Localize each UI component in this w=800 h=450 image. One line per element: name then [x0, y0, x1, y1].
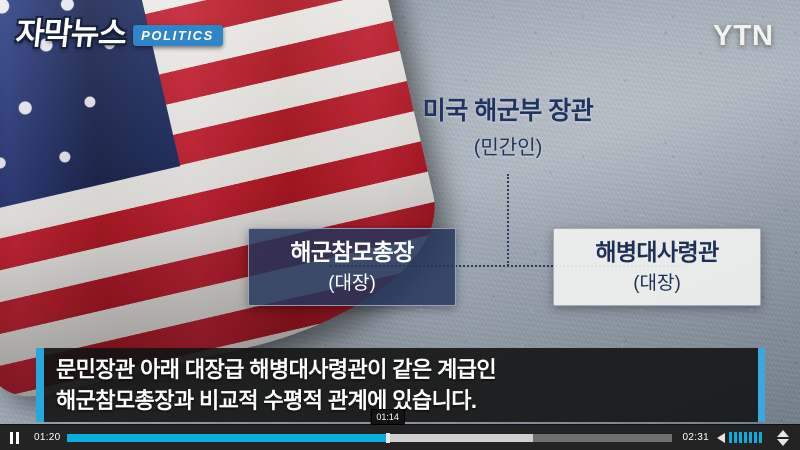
speaker-icon[interactable]: [717, 433, 725, 443]
seek-played: [67, 434, 388, 442]
subtitle-text: 문민장관 아래 대장급 해병대사령관이 같은 계급인 해군참모총장과 비교적 수…: [36, 354, 496, 416]
subtitle-line-2: 해군참모총장과 비교적 수평적 관계에 있습니다.: [56, 385, 496, 416]
player-control-bar: 01:20 01:14 02:31: [0, 424, 800, 450]
volume-bar: [759, 432, 762, 443]
org-node-right-title: 해병대사령관: [595, 239, 718, 265]
org-node-top-subtitle: (민간인): [388, 131, 628, 160]
volume-control[interactable]: [717, 432, 770, 443]
channel-watermark: YTN: [713, 20, 774, 53]
org-node-left-subtitle: (대장): [328, 268, 376, 295]
pause-icon-bar-left: [10, 432, 13, 444]
current-time-label: 01:20: [28, 432, 67, 443]
volume-bar: [729, 432, 732, 443]
subtitle-accent-left: [36, 348, 44, 422]
seek-bar[interactable]: 01:14: [67, 425, 673, 450]
org-node-left: 해군참모총장 (대장): [248, 228, 456, 306]
program-category-badge: POLITICS: [133, 25, 223, 46]
pause-button[interactable]: [0, 425, 28, 450]
org-node-left-title: 해군참모총장: [290, 239, 413, 265]
program-logo: 자막뉴스 POLITICS: [16, 18, 223, 49]
volume-level-bars[interactable]: [729, 432, 762, 443]
seek-handle[interactable]: [386, 433, 390, 443]
pause-icon-bar-right: [16, 432, 19, 444]
volume-bar: [739, 432, 742, 443]
org-node-top-title: 미국 해군부 장관: [388, 98, 628, 126]
seek-hover-tooltip: 01:14: [370, 409, 405, 425]
connector-vertical-dotted: [507, 174, 509, 266]
fullscreen-icon[interactable]: [770, 425, 796, 450]
volume-bar: [754, 432, 757, 443]
subtitle-accent-right: [758, 348, 765, 422]
program-logo-text: 자막뉴스: [14, 18, 127, 49]
seek-track[interactable]: 01:14: [67, 434, 673, 442]
volume-bar: [734, 432, 737, 443]
org-node-right-subtitle: (대장): [633, 268, 681, 295]
total-time-label: 02:31: [672, 432, 717, 443]
video-player: 자막뉴스 POLITICS YTN 미국 해군부 장관 (민간인) 해군참모총장…: [0, 0, 800, 450]
volume-bar: [744, 432, 747, 443]
org-node-right: 해병대사령관 (대장): [553, 228, 761, 306]
volume-bar: [749, 432, 752, 443]
org-node-top: 미국 해군부 장관 (민간인): [388, 98, 628, 160]
subtitle-line-1: 문민장관 아래 대장급 해병대사령관이 같은 계급인: [56, 354, 496, 385]
